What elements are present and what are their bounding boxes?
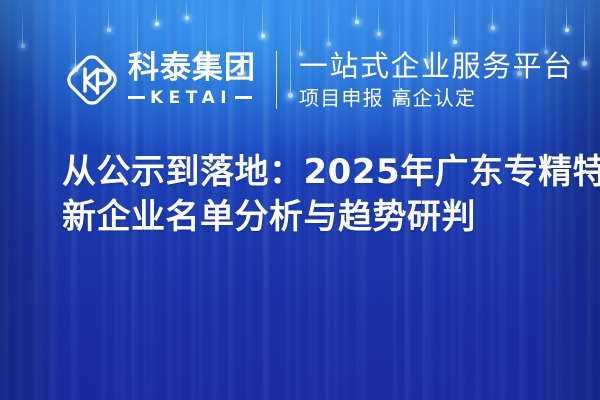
tagline-secondary: 项目申报 高企认定 — [299, 87, 574, 110]
meteor-streak-icon — [262, 0, 263, 36]
meteor-streak-icon — [22, 0, 23, 46]
meteor-streak-icon — [186, 0, 187, 18]
meteor-streak-icon — [566, 0, 567, 30]
banner-header: 科泰集团 KETAI 一站式企业服务平台 项目申报 高企认定 — [62, 44, 574, 116]
meteor-streak-icon — [584, 0, 585, 64]
company-name-cn: 科泰集团 — [128, 52, 256, 85]
kp-monogram-icon — [62, 50, 122, 110]
title-line-1: 从公示到落地：2025年广东专精特 — [62, 150, 582, 195]
meteor-streak-icon — [492, 0, 493, 28]
header-divider — [276, 51, 277, 109]
meteor-streak-icon — [454, 0, 455, 42]
title-line-2: 新企业名单分析与趋势研判 — [62, 195, 582, 240]
ketai-logo[interactable]: 科泰集团 KETAI — [62, 50, 256, 110]
meteor-streak-icon — [378, 0, 379, 34]
tagline-block: 一站式企业服务平台 项目申报 高企认定 — [299, 50, 574, 110]
meteor-streak-icon — [356, 0, 357, 22]
meteor-streak-icon — [328, 0, 329, 44]
tagline-primary: 一站式企业服务平台 — [299, 50, 574, 82]
logo-dash-right-icon — [235, 96, 252, 99]
logo-wordmark: 科泰集团 KETAI — [128, 52, 256, 108]
logo-dash-left-icon — [128, 96, 145, 99]
meteor-streak-icon — [108, 0, 109, 30]
company-name-en-row: KETAI — [128, 88, 256, 108]
banner-title: 从公示到落地：2025年广东专精特 新企业名单分析与趋势研判 — [62, 150, 582, 240]
company-name-en: KETAI — [150, 88, 232, 108]
promo-banner: 科泰集团 KETAI 一站式企业服务平台 项目申报 高企认定 从公示到落地：20… — [0, 0, 600, 400]
meteor-streak-icon — [156, 0, 157, 24]
